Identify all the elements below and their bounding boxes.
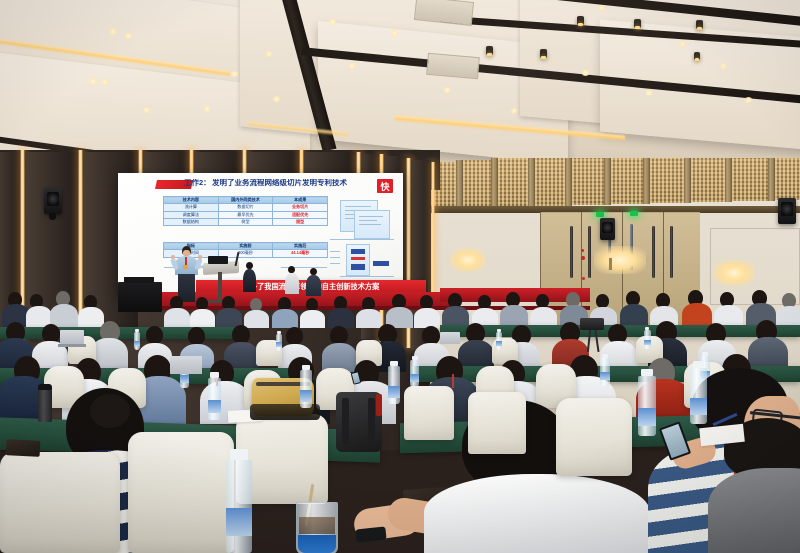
speaker-mount-bracket	[49, 213, 56, 220]
downlight	[203, 106, 211, 112]
table-row: 调度算法 最早优先 适配优先	[164, 211, 328, 218]
door-handle	[670, 226, 673, 278]
downlight	[390, 30, 399, 36]
downlight	[348, 63, 356, 69]
downlight	[719, 63, 728, 69]
water-bottle	[134, 332, 140, 350]
table-cell-highlight: 图型	[273, 218, 328, 225]
track-spotlight	[486, 46, 493, 55]
performance-chart	[346, 244, 370, 276]
presenter-hand	[198, 255, 202, 259]
wall-speaker	[600, 218, 615, 240]
comparison-table-wrapper: 技术内容 国内外同类技术 本成果 流计算 数据切片 业务切片 调度算法 最早优先…	[163, 196, 328, 226]
table-cell: 调度算法	[164, 211, 219, 218]
downlight	[510, 108, 518, 114]
chart-gridline	[330, 263, 340, 264]
water-bottle	[644, 330, 651, 349]
table-cell-highlight: 适配优先	[273, 211, 328, 218]
water-bottle	[208, 378, 221, 420]
chart-bar	[351, 264, 365, 270]
chair	[0, 452, 120, 553]
table-cell-highlight: 44.14毫秒	[273, 250, 328, 257]
chair	[404, 386, 454, 440]
video-camera	[580, 318, 604, 330]
laptop-base	[58, 344, 86, 347]
attendee-shirt	[708, 468, 800, 553]
table-header-row: 技术内容 国内外同类技术 本成果	[164, 197, 328, 204]
comparison-table: 技术内容 国内外同类技术 本成果 流计算 数据切片 业务切片 调度算法 最早优先…	[163, 196, 328, 226]
downlight	[678, 41, 687, 47]
thermos-flask	[38, 388, 52, 422]
wall-sconce	[609, 258, 612, 270]
water-bottle	[496, 332, 502, 350]
door-handle	[652, 226, 655, 278]
downlight	[100, 79, 109, 85]
lectern-monitor	[208, 256, 228, 264]
notebook	[6, 439, 41, 457]
downlight	[88, 78, 98, 85]
attendee-hair-bun	[90, 394, 130, 428]
presenter-hand	[171, 255, 175, 259]
chart-bar	[373, 261, 389, 266]
table-header-cell: 实施后	[273, 243, 328, 250]
downlight	[272, 96, 281, 102]
chart-gridline	[330, 251, 340, 252]
water-bottle	[388, 366, 400, 404]
downlight	[230, 71, 239, 77]
downlight	[124, 33, 133, 39]
table-header-cell: 本成果	[273, 197, 328, 204]
table-header-cell: 国内外同类技术	[218, 197, 273, 204]
cup-label	[298, 535, 336, 553]
projection-screen: 工作2： 发明了业务流程网络级切片发明专利技术 快 技术内容 国内外同类技术 本…	[118, 173, 403, 295]
table-header-cell: 实施前	[218, 243, 273, 250]
chart-gridline	[330, 257, 340, 258]
chair	[556, 398, 632, 476]
downlight	[581, 70, 590, 76]
exit-sign-icon	[596, 212, 604, 217]
wristwatch	[355, 526, 386, 542]
lanyard	[452, 374, 454, 388]
chair	[468, 392, 526, 454]
architecture-diagram-overlay	[354, 210, 390, 239]
exit-sign-icon	[630, 211, 638, 216]
chart-bar	[351, 257, 365, 260]
fire-alarm-indicator	[582, 277, 585, 280]
iced-drink-cup	[296, 502, 338, 553]
door-handle	[570, 226, 573, 278]
table-cell: 树型	[218, 218, 273, 225]
table-row: 流计算 数据切片 业务切片	[164, 204, 328, 211]
water-bottle	[690, 368, 707, 424]
laptop	[440, 332, 460, 344]
table-cell: 数据结构	[164, 218, 219, 225]
downlight	[744, 97, 753, 103]
table-cell: 最早优先	[218, 211, 273, 218]
fire-alarm-indicator	[581, 249, 584, 252]
fire-alarm-indicator	[581, 256, 585, 260]
decorative-grille-band	[430, 158, 800, 210]
table-cell: 数据切片	[218, 204, 273, 211]
downlight	[265, 51, 273, 57]
sconce-glow	[450, 248, 486, 272]
backpack-strap	[342, 398, 349, 444]
brand-logo: 快	[377, 179, 393, 193]
track-spotlight	[540, 49, 547, 58]
table-cell-highlight: 业务切片	[273, 204, 328, 211]
presentation-slide: 工作2： 发明了业务流程网络级切片发明专利技术 快 技术内容 国内外同类技术 本…	[118, 173, 403, 295]
laptop	[60, 330, 84, 344]
backpack-strap	[368, 398, 375, 444]
sconce-glow	[594, 246, 646, 274]
table-cell: 流计算	[164, 204, 219, 211]
downlight	[443, 87, 451, 93]
water-bottle	[600, 358, 610, 386]
wall-speaker	[778, 198, 796, 224]
water-bottle	[300, 370, 312, 408]
chart-axis	[330, 239, 394, 240]
stage-equipment-case	[124, 277, 154, 283]
slide-title: 发明了业务流程网络级切片发明专利技术	[212, 179, 347, 187]
water-bottle	[226, 460, 252, 553]
chair	[128, 432, 234, 553]
downlight	[645, 90, 653, 96]
water-bottle	[410, 360, 419, 387]
chart-bar	[351, 249, 365, 254]
track-spotlight	[694, 52, 700, 60]
downlight	[597, 5, 606, 11]
laptop	[170, 356, 202, 374]
water-bottle	[638, 376, 656, 436]
downlight	[328, 19, 337, 25]
chart-axis	[340, 276, 394, 277]
table-row: 数据结构 树型 图型	[164, 218, 328, 225]
thermos-cap	[38, 384, 52, 390]
attendee-shirt	[424, 474, 650, 553]
wall-speaker	[44, 188, 62, 214]
track-spotlight	[634, 19, 641, 28]
downlight	[142, 107, 151, 113]
door-handle	[588, 226, 591, 278]
downlight	[108, 28, 118, 35]
table-header-cell: 技术内容	[164, 197, 219, 204]
track-spotlight	[577, 16, 584, 25]
presenter-badge	[183, 265, 188, 269]
backpack-accent	[376, 394, 382, 416]
cup-contents	[299, 517, 335, 534]
water-bottle	[276, 334, 282, 351]
track-spotlight	[696, 20, 703, 29]
slide-work-item-label: 工作2：	[184, 179, 211, 187]
conference-hall-photo: 工作2： 发明了业务流程网络级切片发明专利技术 快 技术内容 国内外同类技术 本…	[0, 0, 800, 553]
ceiling-vent	[426, 53, 480, 79]
